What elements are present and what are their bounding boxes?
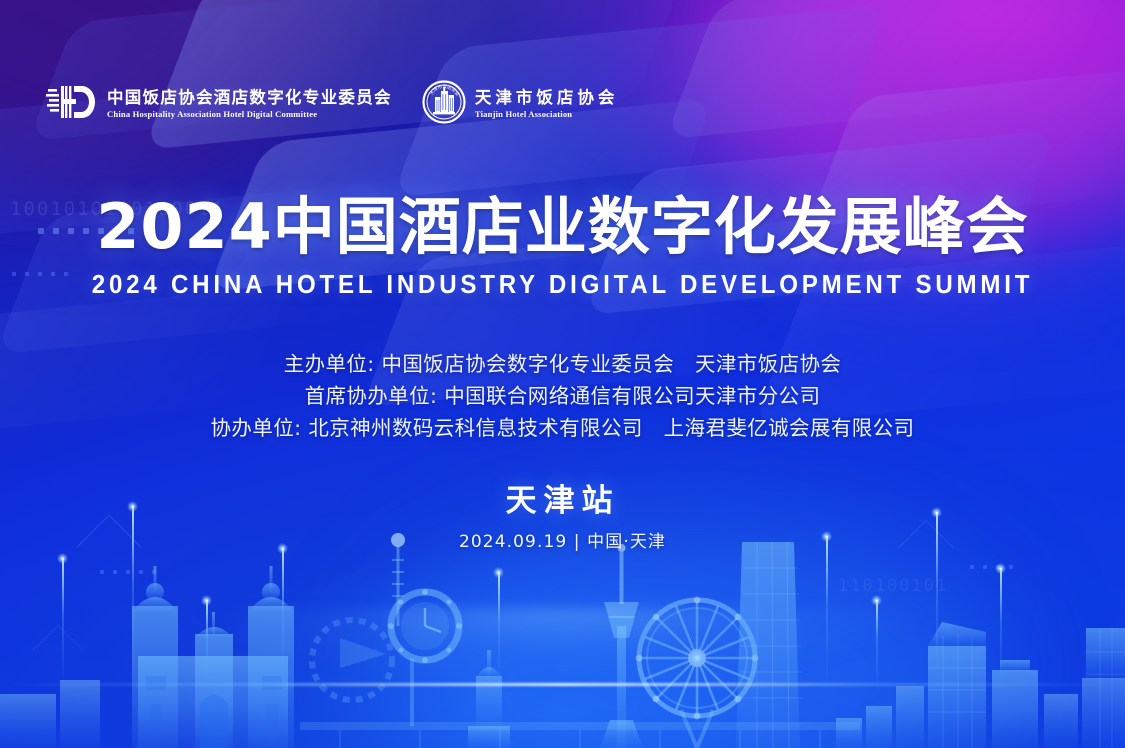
main-title-block: 2024中国酒店业数字化发展峰会 2024 CHINA HOTEL INDUST…: [0, 196, 1125, 300]
station-block: 天津站 2024.09.19 | 中国·天津: [0, 483, 1125, 552]
tianjin-hotel-association-emblem-icon: 天津市饭店协会: [422, 80, 466, 129]
station-date-location: 2024.09.19 | 中国·天津: [0, 527, 1125, 552]
organizer-line-coorganizer: 协办单位: 北京神州数码云科信息技术有限公司 上海君斐亿诚会展有限公司: [0, 412, 1125, 444]
title-chinese: 2024中国酒店业数字化发展峰会: [0, 196, 1125, 258]
horizon-glow-halo: [0, 608, 1125, 708]
logo-cn-name: 中国饭店协会酒店数字化专业委员会: [107, 89, 392, 108]
header-logos: 中国饭店协会酒店数字化专业委员会 China Hospitality Assoc…: [46, 80, 618, 129]
logo-en-name: China Hospitality Association Hotel Digi…: [107, 108, 392, 121]
logo-china-hospitality-association: 中国饭店协会酒店数字化专业委员会 China Hospitality Assoc…: [46, 81, 392, 128]
china-hospitality-association-logo-icon: [46, 81, 98, 128]
logo-tianjin-hotel-association: 天津市饭店协会 天津市饭店协会 Tianjin Hotel Associatio…: [422, 80, 619, 129]
title-english: 2024 CHINA HOTEL INDUSTRY DIGITAL DEVELO…: [31, 271, 1094, 300]
organizer-list: 主办单位: 中国饭店协会数字化专业委员会 天津市饭店协会 首席协办单位: 中国联…: [0, 348, 1125, 444]
horizon-glow-line: [0, 683, 1125, 686]
organizer-line-chief-coorganizer: 首席协办单位: 中国联合网络通信有限公司天津市分公司: [0, 380, 1125, 412]
station-name: 天津站: [0, 483, 1125, 520]
organizer-line-host: 主办单位: 中国饭店协会数字化专业委员会 天津市饭店协会: [0, 348, 1125, 380]
logo-cn-name: 天津市饭店协会: [475, 89, 619, 108]
logo-en-name: Tianjin Hotel Association: [475, 108, 619, 121]
conference-banner: 1001010100100011 110100101: [0, 0, 1125, 748]
